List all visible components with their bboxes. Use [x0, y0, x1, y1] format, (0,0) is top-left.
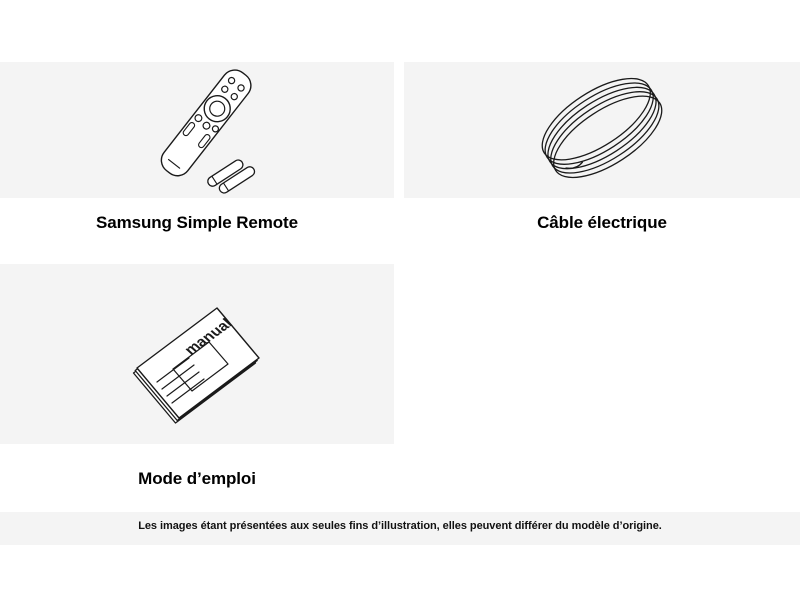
- user-manual-booklet-illustration: manual: [0, 264, 394, 444]
- coiled-power-cable-illustration: [404, 62, 800, 198]
- caption-manual: Mode d’emploi: [0, 469, 394, 489]
- product-image-panel-manual: manual: [0, 264, 394, 444]
- footer-disclaimer: Les images étant présentées aux seules f…: [0, 520, 800, 532]
- accessories-gallery: manual Samsung Simple Remote Câble élect…: [0, 0, 800, 600]
- caption-remote: Samsung Simple Remote: [0, 213, 394, 233]
- caption-cable: Câble électrique: [404, 213, 800, 233]
- product-image-panel-cable: [404, 62, 800, 198]
- remote-control-with-batteries-illustration: [0, 62, 394, 198]
- product-image-panel-remote: [0, 62, 394, 198]
